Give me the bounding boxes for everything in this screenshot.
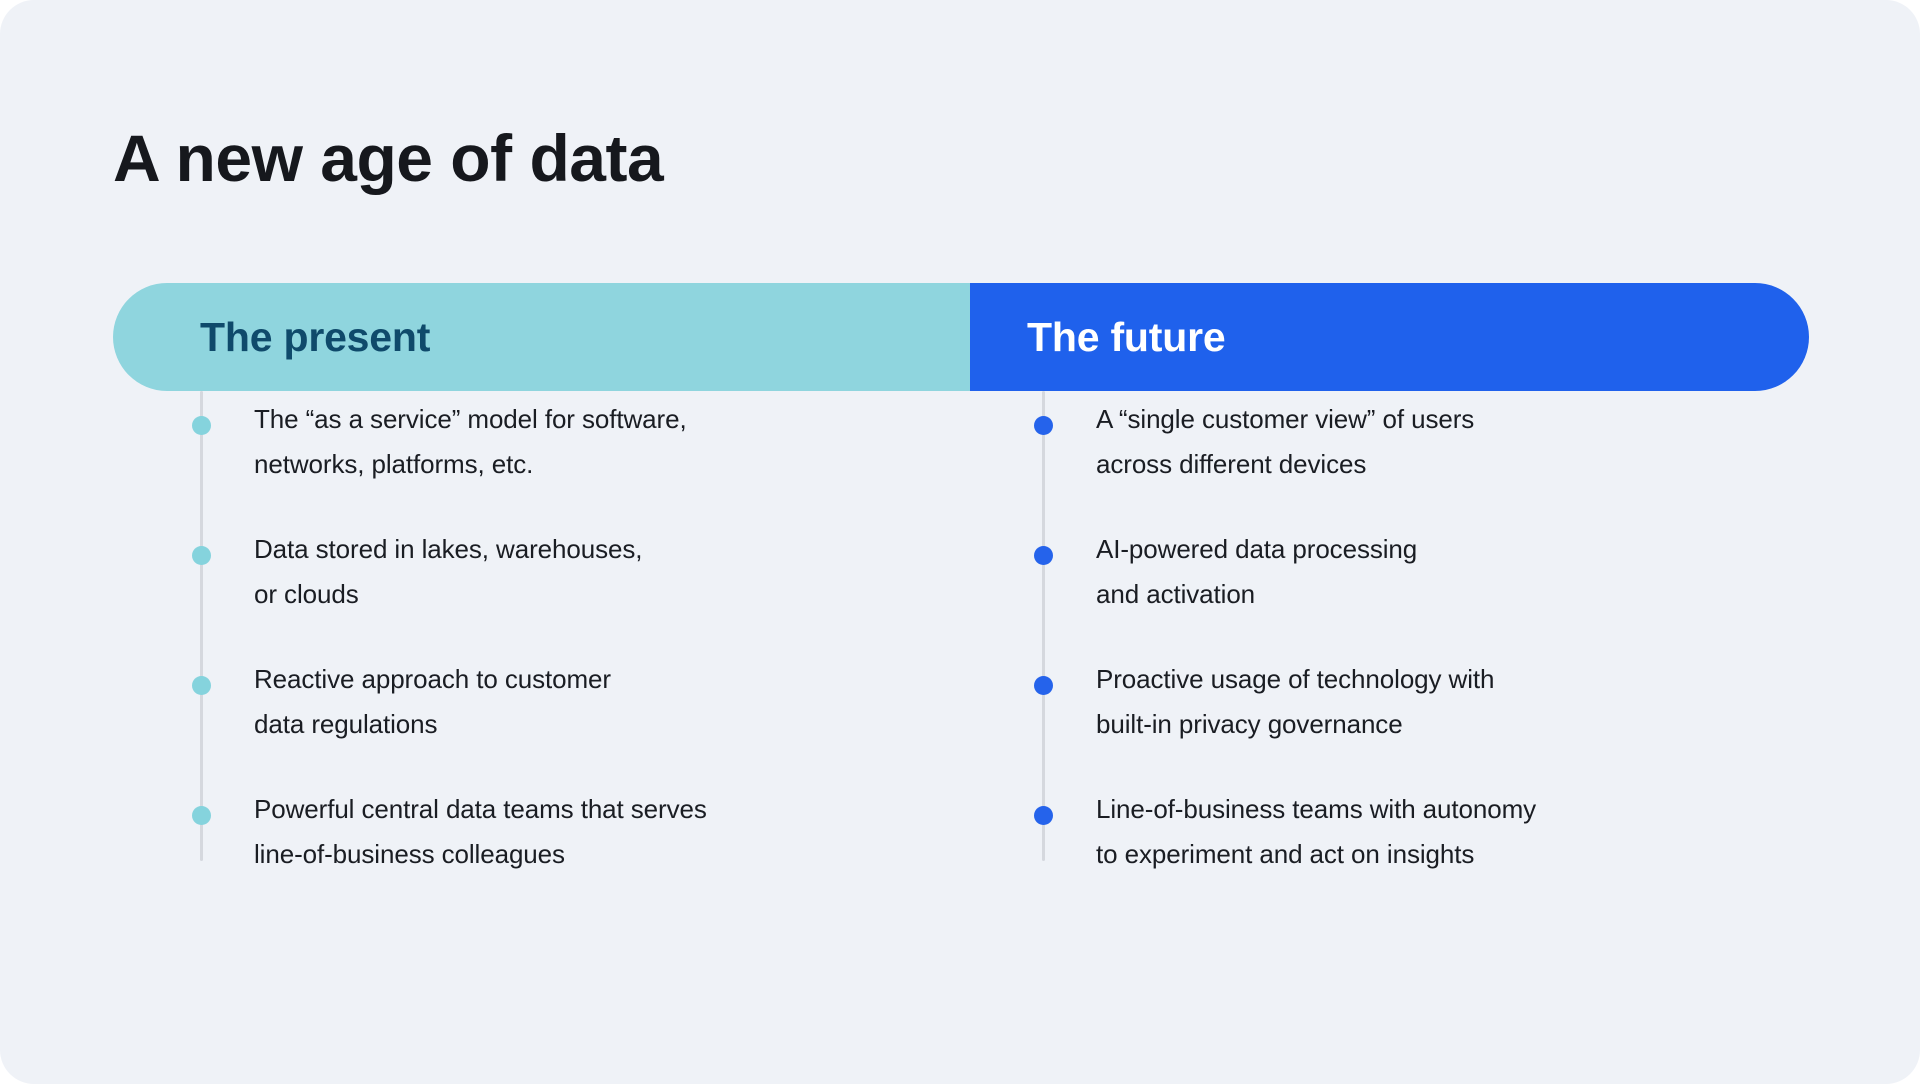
bullet-dot-icon xyxy=(192,546,211,565)
infographic-card: A new age of data The present The future… xyxy=(0,0,1920,1084)
list-item-text: Data stored in lakes, warehouses, or clo… xyxy=(254,527,642,617)
bullet-dot-icon xyxy=(192,806,211,825)
present-header-pill: The present xyxy=(113,283,970,391)
list-item-text: Line-of-business teams with autonomy to … xyxy=(1096,787,1536,877)
bullet-dot-icon xyxy=(1034,416,1053,435)
bullet-dot-icon xyxy=(1034,806,1053,825)
present-header-label: The present xyxy=(200,314,430,361)
bullet-dot-icon xyxy=(1034,676,1053,695)
list-item-text: Proactive usage of technology with built… xyxy=(1096,657,1494,747)
list-item: The “as a service” model for software, n… xyxy=(200,391,1000,521)
list-item: Powerful central data teams that serves … xyxy=(200,781,1000,911)
future-header-pill: The future xyxy=(970,283,1809,391)
page-title: A new age of data xyxy=(113,120,663,196)
list-item: Line-of-business teams with autonomy to … xyxy=(1042,781,1842,911)
list-item-text: The “as a service” model for software, n… xyxy=(254,397,687,487)
list-item: A “single customer view” of users across… xyxy=(1042,391,1842,521)
present-bullet-list: The “as a service” model for software, n… xyxy=(200,391,1000,911)
future-header-label: The future xyxy=(1027,314,1225,361)
bullet-dot-icon xyxy=(192,416,211,435)
future-column: A “single customer view” of users across… xyxy=(1042,391,1842,911)
list-item: AI-powered data processing and activatio… xyxy=(1042,521,1842,651)
list-item-text: AI-powered data processing and activatio… xyxy=(1096,527,1417,617)
list-item: Proactive usage of technology with built… xyxy=(1042,651,1842,781)
future-bullet-list: A “single customer view” of users across… xyxy=(1042,391,1842,911)
bullet-dot-icon xyxy=(192,676,211,695)
list-item-text: A “single customer view” of users across… xyxy=(1096,397,1474,487)
present-column: The “as a service” model for software, n… xyxy=(200,391,1000,911)
bullet-dot-icon xyxy=(1034,546,1053,565)
list-item: Reactive approach to customer data regul… xyxy=(200,651,1000,781)
list-item-text: Powerful central data teams that serves … xyxy=(254,787,707,877)
list-item-text: Reactive approach to customer data regul… xyxy=(254,657,611,747)
list-item: Data stored in lakes, warehouses, or clo… xyxy=(200,521,1000,651)
comparison-header-bar: The present The future xyxy=(113,283,1809,391)
